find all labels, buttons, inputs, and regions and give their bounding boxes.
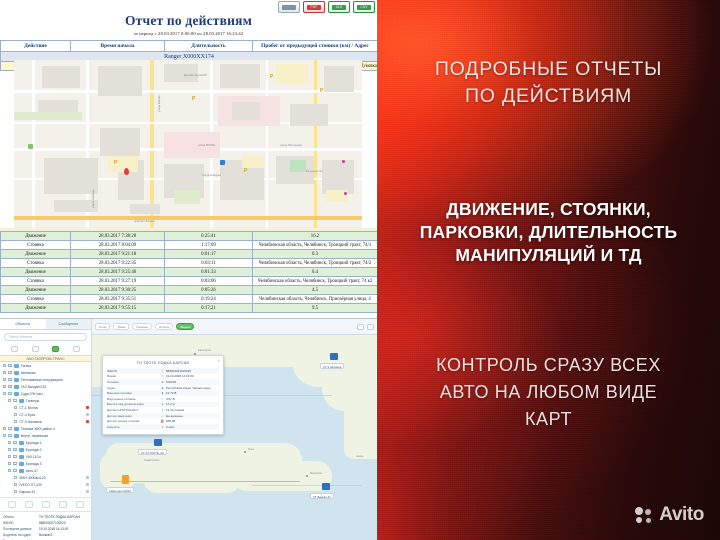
tree-label: МАН 4000ас/120	[19, 476, 45, 480]
checkbox[interactable]	[3, 427, 6, 430]
table-row[interactable]: Движение 28.03.2017 7:38:28 0:25:41 16.2	[1, 232, 378, 241]
checkbox[interactable]	[3, 392, 6, 395]
promo-headline-1-line-2: ПО ДЕЙСТВИЯМ	[377, 83, 720, 110]
street-label: улица Коммуны	[202, 174, 221, 177]
promo-headline-2: ДВИЖЕНИЕ, СТОЯНКИ, ПАРКОВКИ, ДЛИТЕЛЬНОСТ…	[377, 198, 720, 267]
cell-action: Движение	[1, 286, 71, 295]
tree-label: СТ-9 Нахимов	[19, 420, 41, 424]
popup-value: 4.07 В	[166, 397, 219, 401]
popup-row: Датчик уровня топлива⛽660.28	[107, 418, 219, 424]
cell-value: 16.2	[253, 232, 378, 241]
popup-value: 19.10.2018 14:13:00	[166, 374, 219, 378]
left-screenshot-column: PDF XLS CSV Отчет по действиям за период…	[0, 0, 377, 540]
status-badge	[86, 490, 89, 493]
status-badge	[86, 483, 89, 486]
popup-value: 17.2 м	[166, 402, 219, 406]
popup-key: Высота над уровнем моря	[107, 402, 159, 406]
tree-label: Танкеры	[26, 399, 39, 403]
popup-value: 0 км/ч	[166, 425, 219, 429]
popup-row: Время◷19.10.2018 14:13:00	[107, 374, 219, 380]
folder-icon	[14, 378, 19, 382]
table-row[interactable]: Стоянка 28.03.2017 9:27:19 0:03:06 Челяб…	[1, 277, 378, 286]
tree-node[interactable]: −Суда ГЛК част	[0, 390, 91, 397]
cell-action: Стоянка	[1, 259, 71, 268]
expander-icon[interactable]: +	[13, 448, 16, 451]
folder-icon	[19, 441, 24, 445]
expander-icon[interactable]: −	[13, 399, 16, 402]
more-icon[interactable]	[76, 501, 84, 508]
popup-key: Стоянка	[107, 380, 159, 384]
checkbox[interactable]	[14, 490, 17, 493]
sidebar-tabs[interactable]: Объекты Сообщения	[0, 319, 91, 330]
tree-label: Тентованные полуприцепы	[21, 378, 64, 382]
popup-row: Внешнее питание▮12.72 В	[107, 390, 219, 396]
battery-icon: ▯	[159, 397, 166, 401]
expander-icon[interactable]: −	[13, 469, 16, 472]
table-row[interactable]: Стоянка 28.03.2017 8:04:09 1:17:09 Челяб…	[1, 241, 378, 250]
cell-action: Движение	[1, 304, 71, 313]
tree-node[interactable]: −Танкеры	[0, 397, 91, 404]
tree-label: Суда ГЛК част	[21, 392, 44, 396]
vessel-info-popup[interactable]: × ТН ТЛОТЕ ЛОДКА БАРСАН IMEI/IDⓘ86800302…	[102, 355, 224, 435]
table-header-row: Действие Время начала Длительность Пробе…	[1, 41, 378, 52]
checkbox[interactable]	[3, 434, 6, 437]
map-tool-tracks[interactable]: Треки	[113, 323, 129, 330]
anchor-marker-icon[interactable]	[122, 475, 129, 484]
tree-node[interactable]: +Бригада 2	[0, 446, 91, 453]
checkbox[interactable]	[8, 441, 11, 444]
cell-action: Движение	[1, 250, 71, 259]
vessel-label[interactable]: СТ-04 ТЛОТЕ_АН	[138, 449, 167, 455]
popup-row: Стоянка■0:00:00	[107, 379, 219, 385]
cell-action: Стоянка	[1, 241, 71, 250]
map-tool-reports[interactable]: Отчеты	[155, 323, 173, 330]
tree-node[interactable]: +Техника ЖКХ район 4	[0, 425, 91, 432]
checkbox[interactable]	[14, 406, 17, 409]
popup-row: Датчик GPS/ГЛОНАСС✦12 спутников	[107, 407, 219, 413]
checkbox[interactable]	[8, 448, 11, 451]
tree-node[interactable]: +ГАЗ Валдай 033	[0, 383, 91, 390]
table-row[interactable]: Стоянка 28.03.2017 9:22:35 0:03:11 Челяб…	[1, 259, 378, 268]
cell-start: 28.03.2017 9:21:18	[71, 250, 165, 259]
cell-duration: 0:01:17	[165, 250, 253, 259]
metro-icon	[220, 160, 225, 165]
status-badge	[86, 406, 89, 409]
fuel-icon: ⛽	[159, 419, 166, 423]
cell-duration: 0:05:26	[165, 286, 253, 295]
cell-start: 28.03.2017 9:55:15	[71, 304, 165, 313]
promo-panel: ПОДРОБНЫЕ ОТЧЕТЫ ПО ДЕЙСТВИЯМ ДВИЖЕНИЕ, …	[377, 0, 720, 540]
popup-row: Датчик зажигания✓Не включен	[107, 413, 219, 419]
checkbox[interactable]	[3, 371, 6, 374]
map-label: Феодосия	[310, 472, 322, 475]
street-label: улица МОПРа	[198, 144, 215, 147]
popup-value: Не включен	[166, 414, 219, 418]
promo-headline-3-line-2: АВТО НА ЛЮБОМ ВИДЕ	[377, 379, 720, 406]
cell-start: 28.03.2017 7:38:28	[71, 232, 165, 241]
promo-headline-2-line-2: ПАРКОВКИ, ДЛИТЕЛЬНОСТЬ	[391, 221, 706, 244]
tree-label: ГАЗ Валдай 033	[21, 385, 46, 389]
popup-value: 12 спутников	[166, 408, 219, 412]
popup-key: Датчик GPS/ГЛОНАСС	[107, 408, 159, 412]
expander-icon[interactable]: −	[8, 434, 11, 437]
expander-icon[interactable]: +	[13, 462, 16, 465]
popup-row: Высота над уровнем моря▲17.2 м	[107, 402, 219, 408]
folder-icon	[14, 427, 19, 431]
tree-label: СТ-1 Волна	[19, 406, 37, 410]
tree-label: Бригада 1	[26, 441, 42, 445]
cell-start: 28.03.2017 9:35:51	[71, 295, 165, 304]
cell-value: 4.5	[253, 286, 378, 295]
cell-duration: 1:17:09	[165, 241, 253, 250]
close-icon[interactable]: ×	[218, 358, 220, 363]
poi-label: Больница №1	[306, 170, 323, 173]
ignition-icon: ✓	[159, 414, 166, 418]
cell-start: 28.03.2017 9:22:35	[71, 259, 165, 268]
screenshot-root: PDF XLS CSV Отчет по действиям за период…	[0, 0, 720, 540]
table-row[interactable]: Движение 28.03.2017 9:55:15 0:17:21 9.5	[1, 304, 378, 313]
checkbox[interactable]	[3, 385, 6, 388]
popup-key: Датчик зажигания	[107, 414, 159, 418]
fleet-sidebar: Объекты Сообщения Поиск объекта ЗАО ГАЗП…	[0, 319, 92, 540]
map-label: Анапа	[356, 455, 363, 458]
report-period: за период с 28.03.2017 0:00:00 по 28.03.…	[0, 29, 377, 36]
folder-icon	[19, 448, 24, 452]
report-icon[interactable]	[59, 501, 67, 508]
popup-value: 660.28	[166, 419, 219, 423]
popup-title: ТН ТЛОТЕ ЛОДКА БАРСАН	[107, 359, 219, 368]
vessel-marker-icon[interactable]	[330, 353, 338, 360]
cell-value: 9.5	[253, 304, 378, 313]
vessel-marker-icon[interactable]	[322, 483, 330, 490]
promo-headline-1: ПОДРОБНЫЕ ОТЧЕТЫ ПО ДЕЙСТВИЯМ	[377, 56, 720, 110]
cell-duration: 0:01:33	[165, 268, 253, 277]
folder-icon	[14, 364, 19, 368]
promo-headline-2-line-3: МАНИПУЛЯЦИЙ И ТД	[391, 244, 706, 267]
anchor-label[interactable]: Акватория 01010	[106, 487, 134, 493]
cell-action: Движение	[1, 268, 71, 277]
checkbox[interactable]	[14, 476, 17, 479]
clock-icon[interactable]	[42, 501, 50, 508]
popup-value: 0:00:00	[166, 380, 219, 384]
expander-icon[interactable]: +	[8, 385, 11, 388]
tab-objects[interactable]: Объекты	[0, 319, 46, 329]
poi-icon	[28, 144, 33, 149]
cell-start: 28.03.2017 9:30:25	[71, 286, 165, 295]
vessel-label[interactable]: СТ-Баркас-41	[310, 493, 334, 499]
folder-icon	[14, 385, 19, 389]
popup-row: Внутреннее питание▯4.07 В	[107, 396, 219, 402]
tree-label: Баркас-41	[19, 490, 35, 494]
property-value: ТН ТЛОТЕ ЛОДКА БАРСАН	[39, 515, 88, 519]
tree-node[interactable]: СТ-1 Волна	[0, 404, 91, 411]
battery-icon: ▮	[159, 391, 166, 395]
map-tool-geozones[interactable]: Геозоны	[132, 323, 152, 330]
report-rows-lower: Движение 28.03.2017 7:38:28 0:25:41 16.2…	[0, 228, 377, 313]
parking-mark: P	[270, 74, 273, 80]
street-label: проспект Ленина	[134, 220, 154, 223]
checkbox[interactable]	[8, 469, 11, 472]
popup-key: IMEI/ID	[107, 369, 159, 373]
edit-icon[interactable]	[8, 501, 16, 508]
promo-headline-2-line-1: ДВИЖЕНИЕ, СТОЯНКИ,	[391, 198, 706, 221]
export-toolbar[interactable]: PDF XLS CSV	[278, 1, 375, 13]
property-value: Волков Е.	[39, 533, 88, 537]
map-toolbar[interactable]: Слои Треки Геозоны Отчеты Яндекс	[92, 319, 377, 335]
tree-label: Бригада 3	[26, 462, 42, 466]
sidebar-action-buttons[interactable]	[0, 497, 91, 511]
status-badge	[86, 413, 89, 416]
promo-headline-1-line-1: ПОДРОБНЫЕ ОТЧЕТЫ	[377, 56, 720, 83]
city-map-canvas: P P P P P улица МОПРа улица Коммуны улиц…	[14, 60, 362, 228]
property-key: Последние данные	[3, 527, 37, 531]
cell-start: 28.03.2017 9:25:46	[71, 268, 165, 277]
object-tree[interactable]: +Тягачи +Автовозы +Тентованные полуприце…	[0, 362, 91, 495]
map-label: Евпатория	[198, 349, 211, 352]
list-view-icon[interactable]	[11, 346, 18, 352]
city-map-overlay[interactable]: P P P P P улица МОПРа улица Коммуны улиц…	[14, 60, 362, 228]
expander-icon[interactable]: +	[13, 455, 16, 458]
speed-icon: ➤	[159, 425, 166, 429]
settings-icon[interactable]	[73, 346, 80, 352]
popup-key: Внутреннее питание	[107, 397, 159, 401]
fullscreen-icon[interactable]	[357, 324, 364, 330]
folder-icon	[19, 399, 24, 403]
report-table-lower: Движение 28.03.2017 7:38:28 0:25:41 16.2…	[0, 231, 377, 313]
avito-wordmark: Avito	[659, 504, 704, 526]
tree-node[interactable]: СТ-9 Нахимов	[0, 418, 91, 425]
info-icon: ⓘ	[159, 369, 166, 373]
pdf-label: PDF	[311, 5, 318, 9]
tree-node[interactable]: Баркас-41	[0, 488, 91, 495]
stop-icon: ■	[159, 380, 166, 384]
tree-node[interactable]: +Автовозы	[0, 369, 91, 376]
expander-icon[interactable]: +	[8, 378, 11, 381]
pdf-export-icon[interactable]: PDF	[303, 1, 325, 13]
cell-value: 0.3	[253, 250, 378, 259]
checkbox[interactable]	[8, 455, 11, 458]
map-label: Севастополь	[144, 459, 160, 462]
popup-key: Время	[107, 374, 159, 378]
print-map-icon[interactable]	[367, 324, 374, 330]
tree-label: Техника ЖКХ район 4	[21, 427, 55, 431]
popup-key: Скорость	[107, 425, 159, 429]
expander-icon[interactable]: +	[13, 441, 16, 444]
promo-headline-3-line-1: КОНТРОЛЬ СРАЗУ ВСЕХ	[377, 352, 720, 379]
status-badge	[86, 476, 89, 479]
poi-dot-icon	[342, 160, 345, 163]
tree-node[interactable]: +Тентованные полуприцепы	[0, 376, 91, 383]
parking-mark: P	[192, 96, 195, 102]
popup-key: Датчик уровня топлива	[107, 419, 159, 423]
cell-value: Челябинская область, Челябинск, Троицкий…	[253, 259, 378, 268]
tree-label: Тягачи	[21, 364, 31, 368]
street-label: улица Постышева	[280, 144, 302, 147]
cell-duration: 0:25:41	[165, 232, 253, 241]
tree-label: Бригада 2	[26, 448, 42, 452]
col-start: Время начала	[71, 41, 165, 52]
checkbox[interactable]	[3, 378, 6, 381]
cell-start: 28.03.2017 9:27:19	[71, 277, 165, 286]
expander-icon[interactable]: +	[8, 427, 11, 430]
tree-label: СТ-4 Бриз	[19, 413, 35, 417]
street-label-vertical: улица Кирова	[158, 96, 161, 113]
table-row[interactable]: Движение 28.03.2017 9:30:25 0:05:26 4.5	[1, 286, 378, 295]
map-label: Ялта	[248, 448, 254, 451]
expander-icon[interactable]: +	[8, 364, 11, 367]
poi-label: Детский сад №109	[184, 74, 206, 77]
table-row[interactable]: Движение 28.03.2017 9:25:46 0:01:33 0.4	[1, 268, 378, 277]
popup-key: Внешнее питание	[107, 391, 159, 395]
folder-icon	[19, 462, 24, 466]
cell-start: 28.03.2017 8:04:09	[71, 241, 165, 250]
tree-node[interactable]: +Бригада 1	[0, 439, 91, 446]
vessel-label[interactable]: СТ-9 Нахимов	[320, 363, 344, 369]
checkbox[interactable]	[3, 364, 6, 367]
expander-icon[interactable]: −	[8, 392, 11, 395]
parking-mark: P	[114, 160, 117, 166]
cell-duration: 0:03:11	[165, 259, 253, 268]
col-distance-address: Пробег от предыдущей стоянки (км) / Адре…	[253, 41, 378, 52]
checkbox[interactable]	[14, 413, 17, 416]
tree-label: Автовозы	[21, 371, 36, 375]
vessel-marker-icon[interactable]	[154, 439, 162, 446]
promo-headline-3: КОНТРОЛЬ СРАЗУ ВСЕХ АВТО НА ЛЮБОМ ВИДЕ К…	[377, 352, 720, 433]
clock-icon: ◷	[159, 374, 166, 378]
map-tool-provider[interactable]: Яндекс	[176, 323, 194, 330]
street-label-vertical: улица Свободы	[92, 189, 95, 208]
parking-mark: P	[320, 88, 323, 94]
tree-label: УАЗ 110-к	[26, 455, 41, 459]
folder-icon	[14, 371, 19, 375]
pin-icon: ◉	[159, 386, 166, 390]
fleet-app-window: Объекты Сообщения Поиск объекта ЗАО ГАЗП…	[0, 318, 377, 540]
cell-value: Челябинская область, Челябинск, Троицкий…	[253, 241, 378, 250]
property-key: Объект	[3, 515, 37, 519]
popup-value: 868003027100020	[166, 369, 219, 373]
grid-view-icon[interactable]	[32, 346, 39, 352]
properties-panel: ОбъектТН ТЛОТЕ ЛОДКА БАРСАН IMEI/ID86800…	[0, 511, 91, 540]
cell-value: Челябинская область, Челябинск, Приозёрн…	[253, 295, 378, 304]
online-filter-icon[interactable]	[52, 346, 59, 352]
promo-headline-3-line-3: КАРТ	[377, 406, 720, 433]
sidebar-toolbar[interactable]	[0, 344, 91, 355]
table-row[interactable]: Движение 28.03.2017 9:21:18 0:01:17 0.3	[1, 250, 378, 259]
tree-node[interactable]: МАН 4000ас/120	[0, 474, 91, 481]
popup-row: Адрес◉Республика Крым, Чёрное море	[107, 385, 219, 391]
tree-label: Внутр. перевозки	[21, 434, 48, 438]
popup-row: Скорость➤0 км/ч	[107, 424, 219, 430]
parking-mark: P	[244, 168, 247, 174]
checkbox[interactable]	[8, 462, 11, 465]
property-value: 868003027100020	[39, 521, 88, 525]
cell-duration: 0:19:24	[165, 295, 253, 304]
cell-duration: 0:03:06	[165, 277, 253, 286]
popup-value: 12.72 В	[166, 391, 219, 395]
refresh-icon[interactable]	[25, 501, 33, 508]
report-panel: PDF XLS CSV Отчет по действиям за период…	[0, 0, 377, 318]
satellite-icon: ✦	[159, 408, 166, 412]
checkbox[interactable]	[14, 483, 17, 486]
tree-node[interactable]: −Авто-47	[0, 467, 91, 474]
print-export-icon[interactable]	[278, 1, 300, 13]
folder-icon	[14, 392, 19, 396]
tree-label: Авто-47	[26, 469, 38, 473]
popup-key: Адрес	[107, 386, 159, 390]
altitude-icon: ▲	[159, 402, 166, 406]
cell-duration: 0:17:21	[165, 304, 253, 313]
table-row[interactable]: Стоянка 28.03.2017 9:35:51 0:19:24 Челяб…	[1, 295, 378, 304]
expander-icon[interactable]: +	[8, 371, 11, 374]
property-value: 19.10.2018 14:13:00	[39, 527, 88, 531]
checkbox[interactable]	[8, 399, 11, 402]
cell-value: 0.4	[253, 268, 378, 277]
checkbox[interactable]	[14, 420, 17, 423]
popup-row: IMEI/IDⓘ868003027100020	[107, 368, 219, 374]
popup-value: Республика Крым, Чёрное море	[166, 386, 219, 390]
col-action: Действие	[1, 41, 71, 52]
tree-node[interactable]: IVECO ST-430	[0, 481, 91, 488]
csv-export-icon[interactable]: CSV	[353, 1, 375, 13]
tree-node[interactable]: −Внутр. перевозки	[0, 432, 91, 439]
tree-node[interactable]: +Бригада 3	[0, 460, 91, 467]
col-duration: Длительность	[165, 41, 253, 52]
cell-action: Движение	[1, 232, 71, 241]
tree-node[interactable]: +Тягачи	[0, 362, 91, 369]
folder-icon	[19, 455, 24, 459]
tree-label: IVECO ST-430	[19, 483, 41, 487]
tree-node[interactable]: СТ-4 Бриз	[0, 411, 91, 418]
map-tool-layers[interactable]: Слои	[95, 323, 110, 330]
tab-messages[interactable]: Сообщения	[46, 319, 92, 329]
csv-label: CSV	[360, 5, 367, 9]
folder-icon	[19, 469, 24, 473]
stop-pin-icon[interactable]	[124, 168, 129, 175]
cell-value: Челябинская область, Челябинск, Троицкий…	[253, 277, 378, 286]
cell-action: Стоянка	[1, 277, 71, 286]
avito-logo-icon	[635, 507, 655, 524]
group-header: ЗАО ГАЗПРОМ-ТРАНС	[0, 355, 91, 362]
folder-icon	[14, 434, 19, 438]
poi-dot-icon	[344, 192, 347, 195]
property-key: Водитель на судне	[3, 533, 37, 537]
fleet-map[interactable]: Слои Треки Геозоны Отчеты Яндекс	[92, 319, 377, 540]
search-input[interactable]: Поиск объекта	[4, 333, 87, 341]
cell-action: Стоянка	[1, 295, 71, 304]
xls-export-icon[interactable]: XLS	[328, 1, 350, 13]
status-badge	[86, 420, 89, 423]
property-key: IMEI/ID	[3, 521, 37, 525]
avito-watermark: Avito	[635, 504, 704, 526]
xls-label: XLS	[336, 5, 343, 9]
tree-node[interactable]: +УАЗ 110-к	[0, 453, 91, 460]
